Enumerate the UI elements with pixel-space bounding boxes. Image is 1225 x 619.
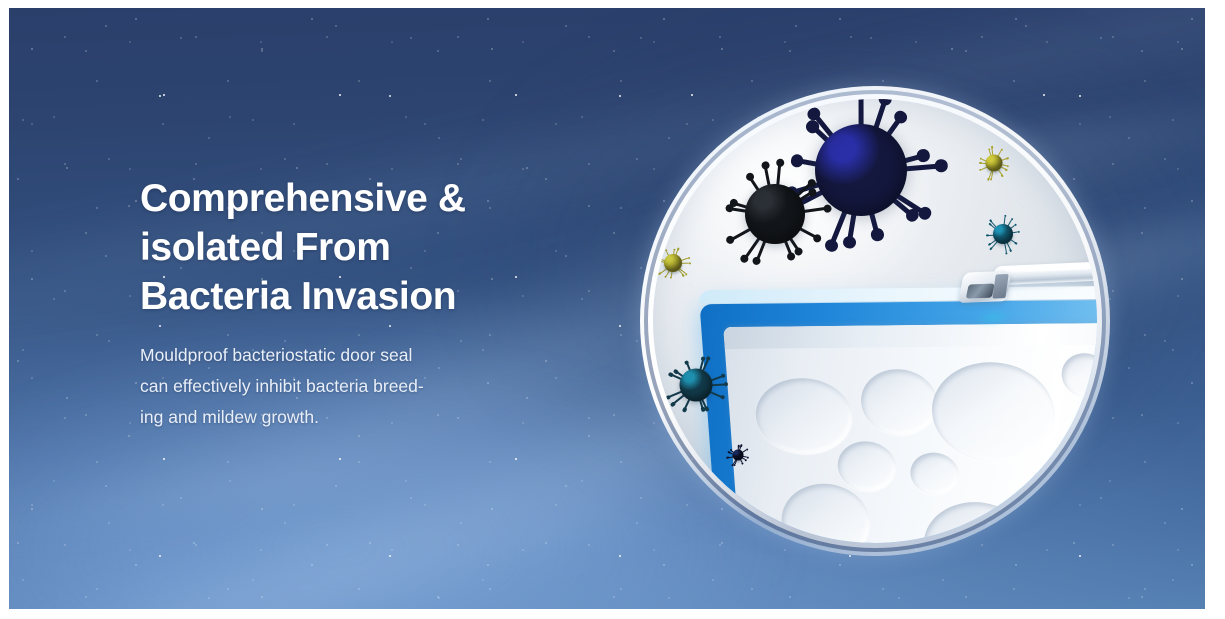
seal-clip-latch [966,283,995,298]
virus-core [732,449,743,460]
seal-dimple [859,369,940,436]
page-subtitle: Mouldproof bacteriostatic door seal can … [140,340,512,433]
virus-teal-right [982,213,1025,256]
door-seal-lip [723,322,1097,349]
copy-block: Comprehensive & isolated From Bacteria I… [140,174,540,433]
seal-clip [960,264,1022,312]
seal-dimple [779,483,873,543]
starfield-background: Comprehensive & isolated From Bacteria I… [9,8,1205,609]
virus-core [993,224,1013,244]
virus-yellow-left [654,244,693,283]
seal-dimple [928,362,1058,463]
virus-core [985,154,1002,171]
virus-core [745,184,805,244]
virus-dark-medium [711,150,840,279]
magnifier-lens [640,86,1110,556]
seal-dimple [836,441,898,491]
virus-navy-small [726,443,750,467]
frame-edge-left [0,0,9,619]
door-seal-object [700,270,1097,543]
seal-dimple [909,452,960,494]
seal-dimple [1047,472,1097,543]
virus-teal-left [661,350,732,421]
virus-core [664,254,682,272]
door-seal-panel [723,322,1097,543]
frame-edge-bottom [0,609,1225,619]
seal-dimple [753,378,855,455]
seal-dimple [1060,353,1097,397]
frame-edge-right [1205,0,1225,619]
seal-dimple [921,502,1034,543]
banner-root: Comprehensive & isolated From Bacteria I… [0,0,1225,619]
lens-face [653,99,1097,543]
frame-edge-top [0,0,1225,8]
virus-core [679,368,712,401]
page-title: Comprehensive & isolated From Bacteria I… [140,174,540,321]
virus-yellow-top [976,145,1013,182]
